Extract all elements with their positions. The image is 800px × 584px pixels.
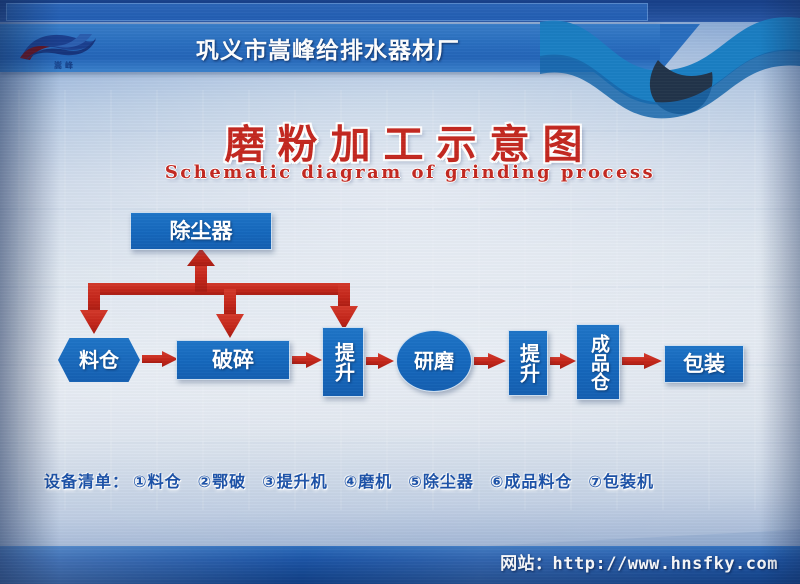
equipment-item: ⑤除尘器	[408, 472, 474, 491]
vignette-left	[0, 0, 60, 584]
poster-root: 嵩峰 巩义市嵩峰给排水器材厂 磨粉加工示意图 Schematic diagram…	[0, 0, 800, 584]
background-sheen	[0, 223, 800, 578]
dust-collector-branch-arrows	[80, 248, 358, 338]
equipment-list-label: 设备清单：	[44, 468, 129, 492]
flow-node-label: 破碎	[212, 349, 254, 371]
flow-node-crusher: 破碎	[176, 340, 290, 380]
company-name: 巩义市嵩峰给排水器材厂	[118, 24, 538, 72]
equipment-list-items: ①料仓②鄂破③提升机④磨机⑤除尘器⑥成品料仓⑦包装机	[133, 468, 670, 492]
flow-node-label: 研磨	[414, 351, 454, 372]
company-logo: 嵩峰	[12, 26, 104, 74]
flow-node-elevator_2: 提升	[508, 330, 548, 396]
flow-node-silo: 料仓	[58, 338, 140, 382]
flow-node-packing: 包装	[664, 345, 744, 383]
equipment-item: ⑦包装机	[588, 472, 654, 491]
flow-node-label: 提升	[333, 342, 354, 382]
equipment-item: ③提升机	[262, 472, 328, 491]
flow-node-label: 包装	[683, 353, 725, 375]
equipment-item: ④磨机	[344, 472, 393, 491]
flow-node-elevator_1: 提升	[322, 327, 364, 397]
flow-node-dust_collector: 除尘器	[130, 212, 272, 250]
flow-node-grinder: 研磨	[396, 330, 472, 392]
flow-node-product_silo: 成品仓	[576, 324, 620, 400]
website-url: 网站：http://www.hnsfky.com	[500, 549, 778, 574]
equipment-list: 设备清单： ①料仓②鄂破③提升机④磨机⑤除尘器⑥成品料仓⑦包装机	[44, 467, 764, 493]
logo-s-icon	[12, 26, 104, 64]
ribbon-wave-decoration	[540, 0, 800, 130]
flow-node-label: 料仓	[79, 350, 119, 371]
page-subtitle: Schematic diagram of grinding process	[150, 162, 670, 183]
flow-node-label: 除尘器	[170, 220, 233, 242]
flow-node-label: 成品仓	[588, 334, 608, 391]
logo-caption: 嵩峰	[42, 60, 88, 71]
equipment-item: ②鄂破	[198, 472, 247, 491]
equipment-item: ⑥成品料仓	[490, 472, 573, 491]
flow-node-label: 提升	[518, 343, 539, 383]
equipment-item: ①料仓	[133, 472, 182, 491]
